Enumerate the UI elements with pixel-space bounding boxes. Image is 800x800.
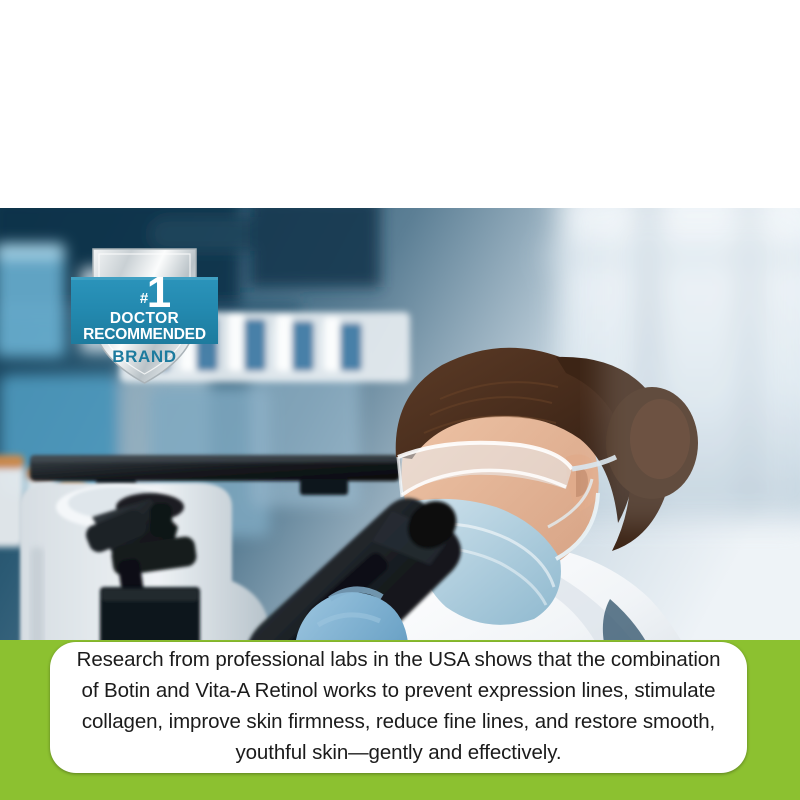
badge-shield-graphic: # 1 DOCTOR RECOMMENDED BRAND bbox=[63, 243, 226, 389]
description-card: Research from professional labs in the U… bbox=[50, 642, 747, 773]
description-line: of Botin and Vita-A Retinol works to pre… bbox=[77, 675, 721, 706]
badge-line3: BRAND bbox=[112, 347, 176, 366]
badge-line1: DOCTOR bbox=[110, 310, 179, 327]
header-zone bbox=[0, 0, 800, 208]
product-marketing-banner: Customized Formula BOTIN & VITA-A RETINO… bbox=[0, 0, 800, 800]
badge-line2: RECOMMENDED bbox=[83, 326, 206, 343]
description-line: Research from professional labs in the U… bbox=[77, 644, 721, 675]
description-line: youthful skin—gently and effectively. bbox=[77, 737, 721, 768]
description-text: Research from professional labs in the U… bbox=[77, 644, 721, 768]
description-line: collagen, improve skin firmness, reduce … bbox=[77, 706, 721, 737]
doctor-recommended-badge: # 1 DOCTOR RECOMMENDED BRAND bbox=[63, 243, 226, 389]
